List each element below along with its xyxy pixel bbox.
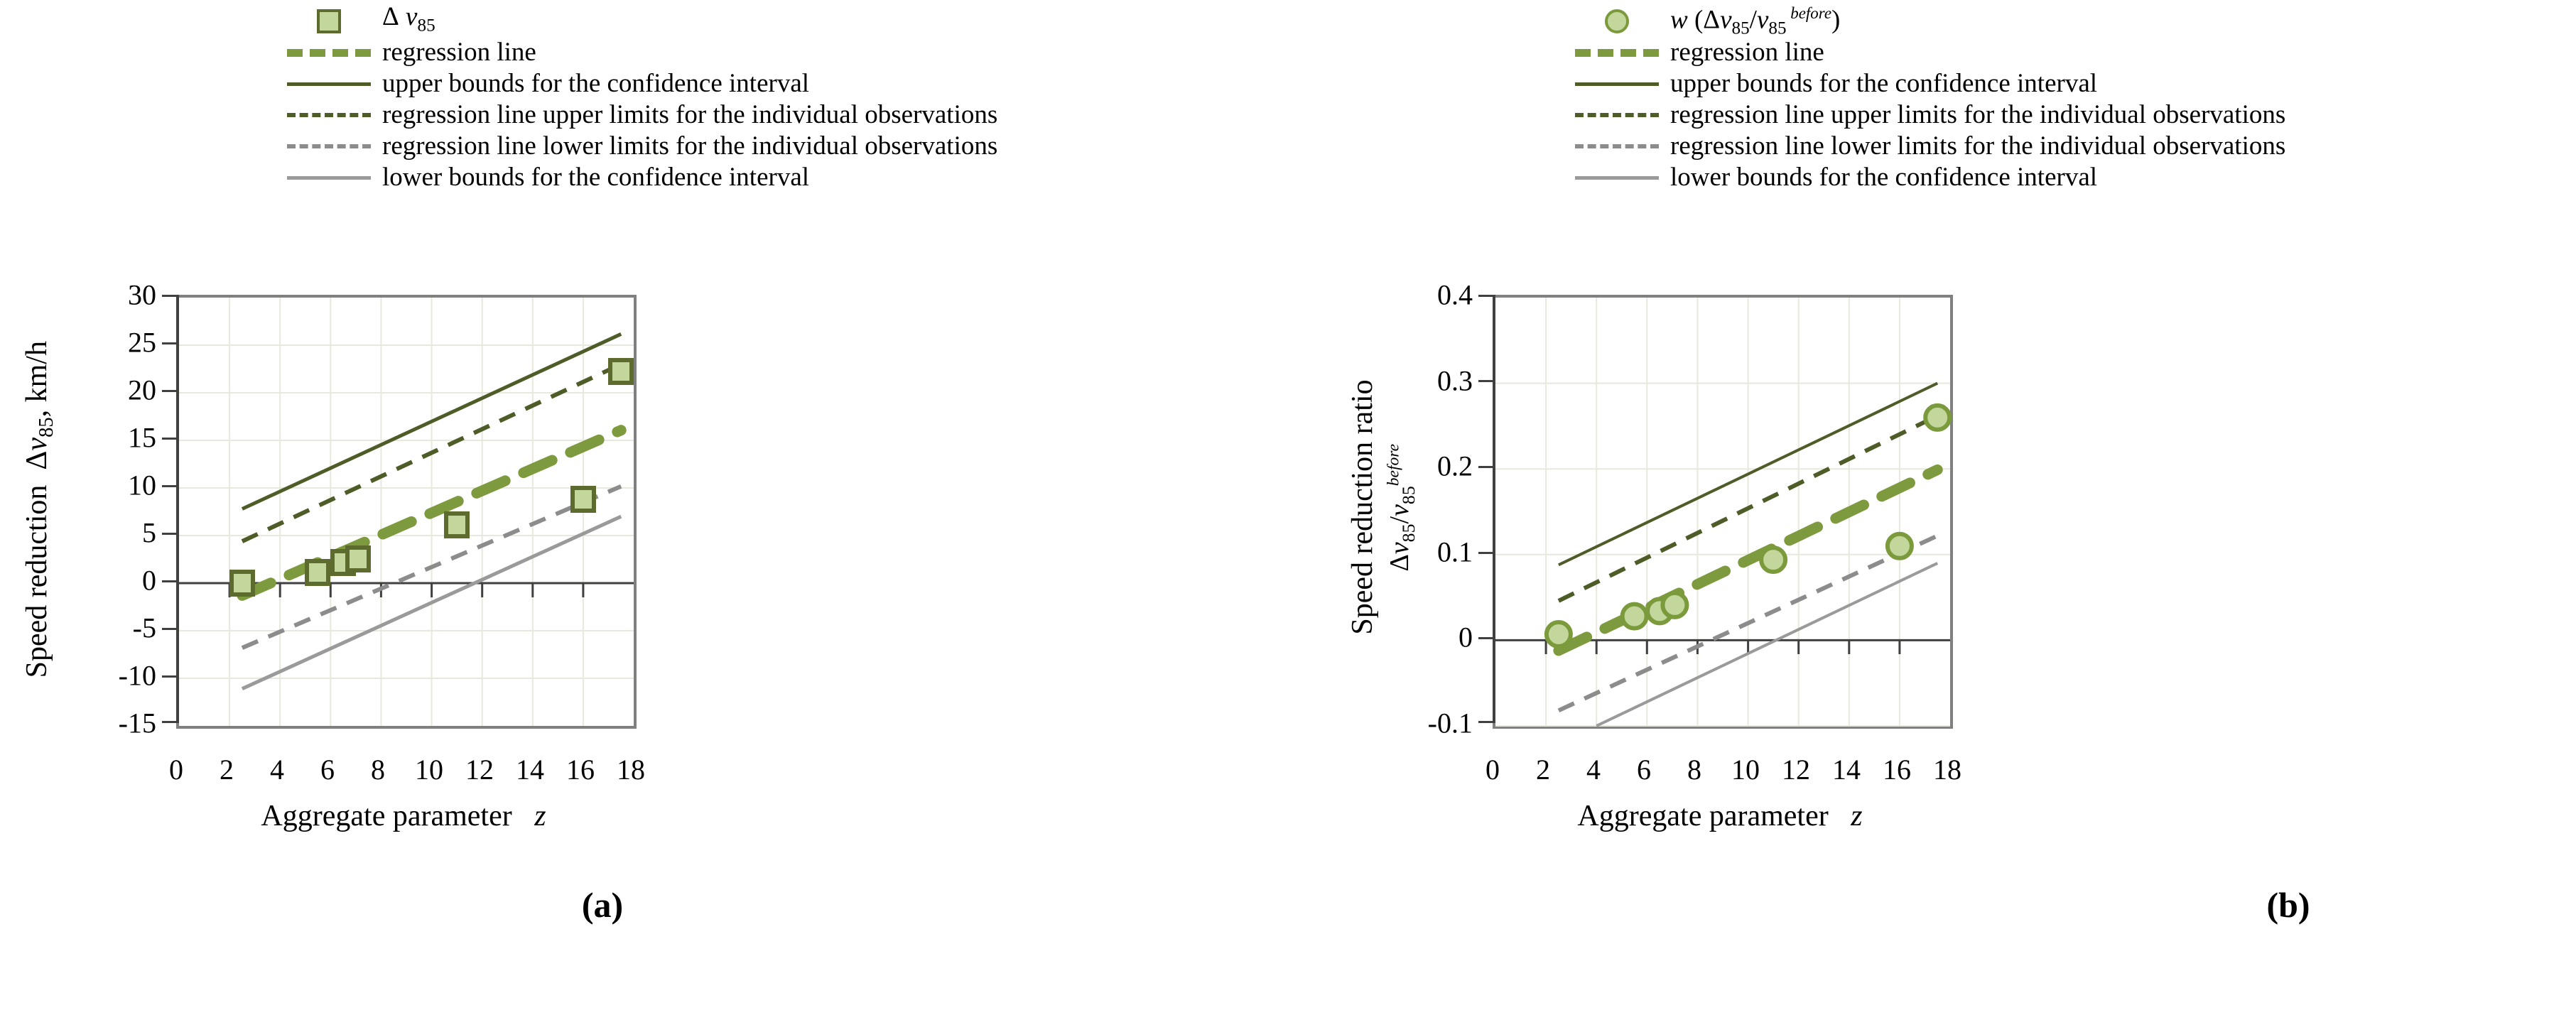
legend-label-lower-confidence: lower bounds for the confidence interval [1670, 162, 2097, 193]
x-axis-title-text: Aggregate parameter [1577, 800, 1828, 832]
regression-line-icon [1564, 37, 1670, 68]
plot-svg-b [1495, 298, 1950, 726]
y-tick: 20 [128, 374, 156, 407]
legend-row-upper-individual: regression line upper limits for the ind… [1564, 99, 2558, 131]
lower-individual-line-icon [276, 131, 382, 162]
plot-svg-a [179, 298, 634, 726]
y-axis-title-formula-b: Δv85/v85before [1384, 281, 1419, 735]
y-axis-title-b: Speed reduction ratio [1346, 280, 1380, 734]
x-axis-ticks-a: 0 2 4 6 8 10 12 14 16 18 [176, 753, 631, 795]
x-tick: 16 [1883, 753, 1911, 786]
y-tick-marks-a [162, 295, 179, 723]
x-tick: 14 [1832, 753, 1861, 786]
data-point-square [232, 572, 253, 594]
vertical-gridlines-a [229, 298, 583, 726]
y-tick: 5 [142, 516, 156, 550]
sublabel-b: (b) [2239, 884, 2338, 925]
data-point-circle [1547, 622, 1571, 646]
data-point-circle [1623, 604, 1647, 629]
y-tick: -10 [119, 659, 156, 693]
y-tick: -0.1 [1428, 707, 1473, 740]
y-axis-title-unit: , km/h [21, 341, 53, 417]
x-tick: 8 [1687, 753, 1701, 786]
y-tick: 0.1 [1437, 536, 1473, 569]
x-tick: 2 [1536, 753, 1550, 786]
y-axis-title-text: Speed reduction ratio [1346, 379, 1379, 634]
horizontal-gridlines-b [1495, 384, 1950, 726]
x-tick: 8 [371, 753, 385, 786]
lower-confidence-line-icon [276, 162, 382, 193]
legend-label-lower-individual: regression line lower limits for the ind… [382, 131, 997, 162]
legend-row-upper-confidence: upper bounds for the confidence interval [276, 68, 1270, 99]
y-tick: 10 [128, 469, 156, 502]
y-tick: 0 [1459, 621, 1473, 654]
x-tick-marks-b [1546, 640, 1900, 654]
x-tick: 12 [1782, 753, 1810, 786]
y-axis-title-superscript: before [1385, 444, 1403, 486]
legend-label-upper-confidence: upper bounds for the confidence interval [382, 68, 809, 99]
legend-label-upper-individual: regression line upper limits for the ind… [382, 99, 997, 131]
y-axis-title-symbol: v [1385, 542, 1414, 554]
y-tick: 0.2 [1437, 450, 1473, 483]
y-axis-title-text: Speed reduction [21, 485, 53, 678]
legend-row-lower-individual: regression line lower limits for the ind… [1564, 131, 2558, 162]
y-tick: 25 [128, 326, 156, 359]
regression-line-icon [276, 37, 382, 68]
legend-row-regression-line: regression line [276, 37, 1270, 68]
y-axis-title-subscript: 85 [1398, 524, 1419, 543]
legend-label-delta-v85: Δ v85 [382, 1, 435, 41]
panel-b: w (Δv85/v85 before) regression line uppe… [1288, 0, 2576, 1010]
y-tick-marks-b [1478, 295, 1495, 723]
x-tick-marks-a [229, 583, 583, 597]
data-point-square [307, 561, 328, 584]
data-point-square [347, 548, 369, 570]
legend-row-regression-line: regression line [1564, 37, 2558, 68]
circle-marker-icon [1564, 6, 1670, 37]
legend-row-upper-confidence: upper bounds for the confidence interval [1564, 68, 2558, 99]
panel-a: Δ v85 regression line upper bounds for t… [0, 0, 1288, 1010]
y-tick: -15 [119, 707, 156, 740]
y-tick: 30 [128, 278, 156, 312]
x-axis-title-symbol: z [1851, 800, 1862, 832]
x-tick: 0 [169, 753, 183, 786]
y-axis-title-subscript: 85 [36, 417, 58, 438]
legend-row-lower-confidence: lower bounds for the confidence interval [276, 162, 1270, 193]
y-tick: 15 [128, 421, 156, 455]
legend-row-upper-individual: regression line upper limits for the ind… [276, 99, 1270, 131]
legend-panel-b: w (Δv85/v85 before) regression line uppe… [1564, 6, 2558, 193]
data-point-circle [1662, 593, 1687, 617]
legend-row-lower-confidence: lower bounds for the confidence interval [1564, 162, 2558, 193]
data-point-circle [1888, 534, 1912, 558]
legend-label-upper-confidence: upper bounds for the confidence interval [1670, 68, 2097, 99]
y-tick: 0.3 [1437, 364, 1473, 398]
data-point-square [610, 360, 632, 383]
plot-area-a [176, 295, 637, 729]
x-tick: 14 [516, 753, 544, 786]
lower-confidence-line-icon [1564, 162, 1670, 193]
upper-confidence-line-icon [1564, 68, 1670, 99]
x-axis-title-a: Aggregate parameter z [176, 799, 631, 833]
x-axis-title-text: Aggregate parameter [261, 800, 512, 832]
data-point-square [573, 488, 594, 511]
x-tick: 2 [220, 753, 234, 786]
y-tick: 0.4 [1437, 278, 1473, 312]
x-tick: 4 [1586, 753, 1601, 786]
legend-row-lower-individual: regression line lower limits for the ind… [276, 131, 1270, 162]
lower-individual-line-icon [1564, 131, 1670, 162]
legend-label-lower-confidence: lower bounds for the confidence interval [382, 162, 809, 193]
x-tick: 10 [415, 753, 443, 786]
x-axis-ticks-b: 0 2 4 6 8 10 12 14 16 18 [1493, 753, 1947, 795]
y-tick: -5 [133, 612, 156, 645]
x-tick: 6 [320, 753, 335, 786]
legend-label-upper-individual: regression line upper limits for the ind… [1670, 99, 2285, 131]
legend-panel-a: Δ v85 regression line upper bounds for t… [276, 6, 1270, 193]
sublabel-a: (a) [553, 884, 652, 925]
legend-label-regression-line: regression line [382, 37, 536, 68]
legend-row-ratio: w (Δv85/v85 before) [1564, 6, 2558, 37]
upper-individual-line-icon [1564, 99, 1670, 131]
x-axis-title-b: Aggregate parameter z [1493, 799, 1947, 833]
legend-label-regression-line: regression line [1670, 37, 1824, 68]
x-tick: 6 [1637, 753, 1651, 786]
x-tick: 12 [465, 753, 494, 786]
data-point-circle [1761, 548, 1785, 572]
x-tick: 18 [1933, 753, 1961, 786]
square-marker-icon [276, 6, 382, 37]
upper-confidence-line-icon [276, 68, 382, 99]
x-tick: 16 [566, 753, 595, 786]
legend-label-lower-individual: regression line lower limits for the ind… [1670, 131, 2285, 162]
data-point-square [446, 514, 467, 536]
upper-individual-line-icon [276, 99, 382, 131]
y-axis-title-a: Speed reduction Δv85, km/h [20, 282, 58, 737]
y-axis-ticks-a: 30 25 20 15 10 5 0 -5 -10 -15 [71, 0, 156, 1010]
x-tick: 0 [1485, 753, 1500, 786]
y-axis-title-symbol: v [21, 438, 53, 451]
legend-row-delta-v85: Δ v85 [276, 6, 1270, 37]
data-point-circle [1925, 406, 1949, 430]
x-tick: 18 [617, 753, 645, 786]
x-axis-title-symbol: z [534, 800, 546, 832]
x-tick: 4 [270, 753, 284, 786]
y-tick: 0 [142, 564, 156, 597]
plot-area-b [1493, 295, 1953, 729]
x-tick: 10 [1731, 753, 1760, 786]
